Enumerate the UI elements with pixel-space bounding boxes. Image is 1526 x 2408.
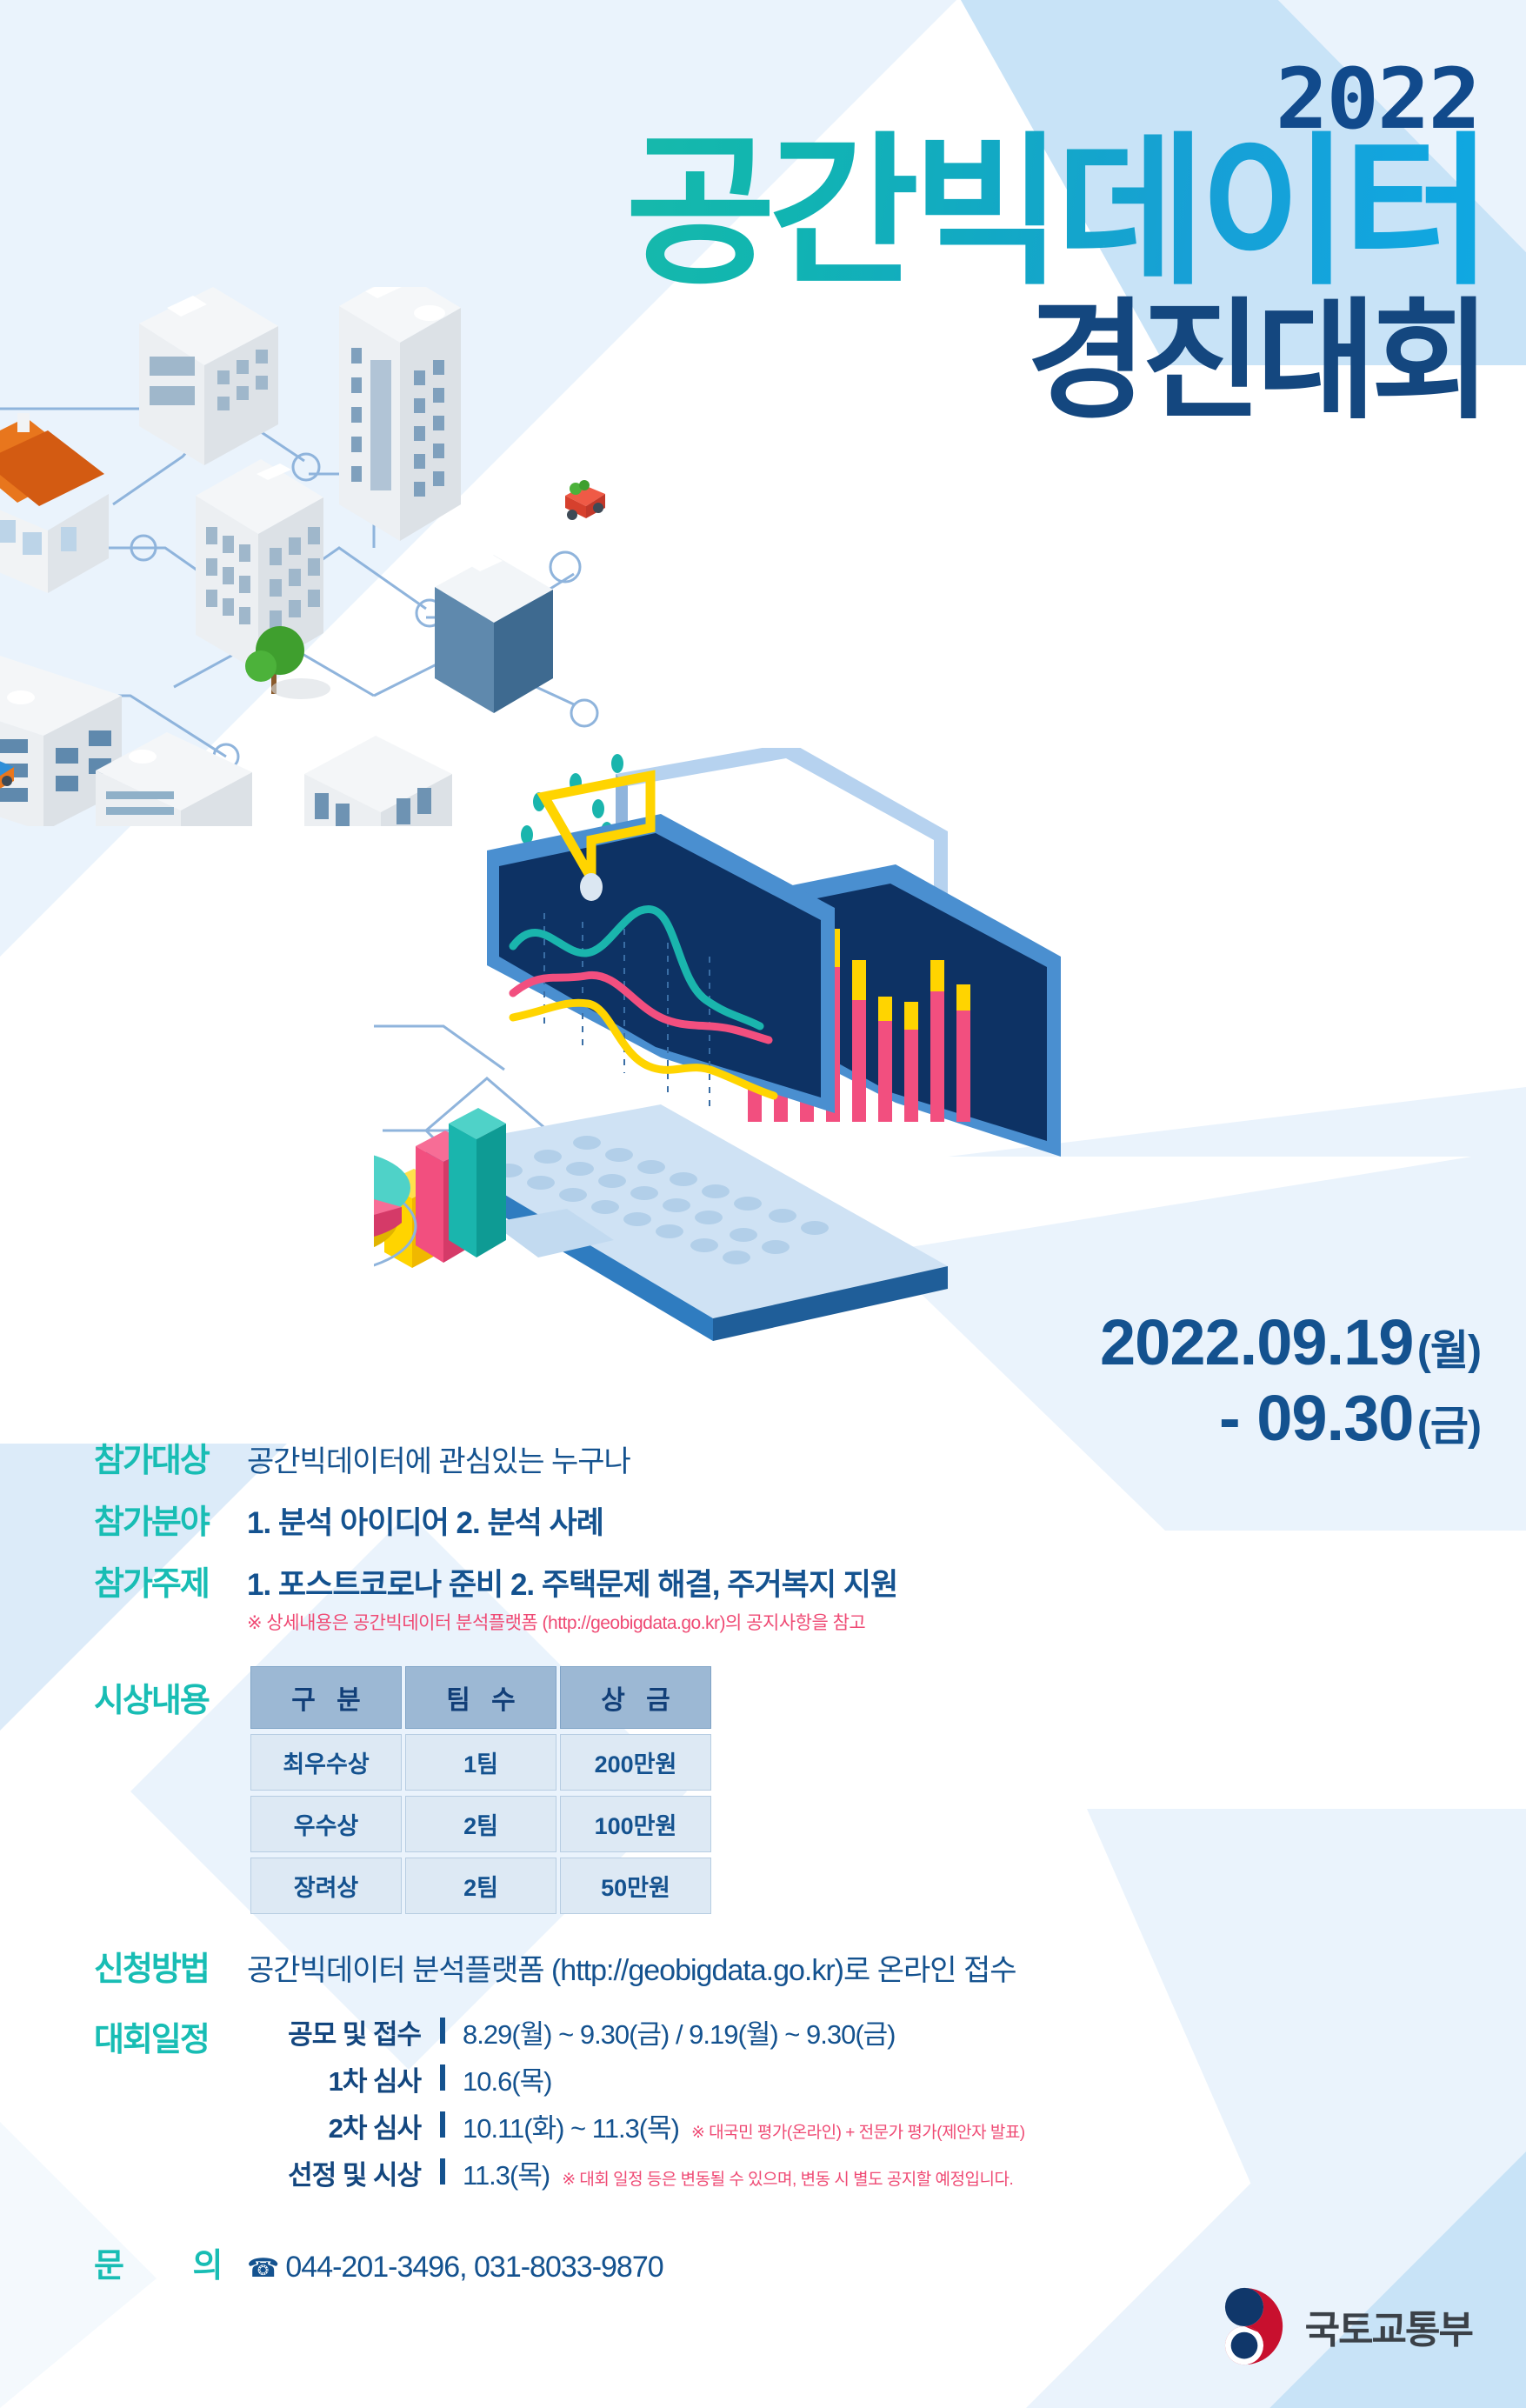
info-row-topic: 참가주제 1. 포스트코로나 준비 2. 주택문제 해결, 주거복지 지원 ※ … [94,1557,1224,1635]
awards-cell-prize: 50만원 [560,1858,711,1914]
contact-value: ☎044-201-3496, 031-8033-9870 [247,2251,663,2285]
event-date-end: - 09.30 [1219,1382,1413,1454]
table-row: 우수상 2팀 100만원 [250,1796,711,1852]
poster-title-sub: 경진대회 [1027,296,1486,426]
label-apply: 신청방법 [94,1942,247,1990]
label-schedule: 대회일정 [94,2012,247,2060]
label-awards: 시상내용 [94,1661,247,1721]
table-row: 장려상 2팀 50만원 [250,1858,711,1914]
awards-cell-category: 우수상 [250,1796,402,1852]
awards-table: 구 분 팀 수 상 금 최우수상 1팀 200만원 우수상 2팀 100만원 [247,1661,715,1919]
label-contact: 문 의 [94,2238,247,2286]
laptop-dashboard-illustration [374,748,1174,1357]
awards-cell-teams: 2팀 [405,1858,556,1914]
event-date-start-dow: (월) [1417,1328,1481,1374]
schedule-divider-icon [440,2064,445,2091]
table-row: 최우수상 1팀 200만원 [250,1734,711,1791]
schedule-list: 공모 및 접수 8.29(월) ~ 9.30(금) / 9.19(월) ~ 9.… [247,2012,1224,2200]
awards-cell-category: 장려상 [250,1858,402,1914]
list-item: 1차 심사 10.6(목) [247,2059,1224,2098]
schedule-item-name: 선정 및 시상 [247,2153,440,2192]
awards-cell-prize: 200만원 [560,1734,711,1791]
label-target: 참가대상 [94,1433,247,1481]
contact-phone-numbers: 044-201-3496, 031-8033-9870 [285,2251,663,2284]
poster-title-main: 공간빅데이터 [625,130,1486,294]
schedule-item-date: 8.29(월) ~ 9.30(금) / 9.19(월) ~ 9.30(금) [463,2012,896,2051]
schedule-divider-icon [440,2111,445,2138]
isometric-city-illustration [0,287,661,826]
schedule-section: 대회일정 공모 및 접수 8.29(월) ~ 9.30(금) / 9.19(월)… [94,2012,1224,2200]
event-date-line-1: 2022.09.19 (월) [1100,1304,1481,1380]
awards-cell-teams: 2팀 [405,1796,556,1852]
contact-section: 문 의 ☎044-201-3496, 031-8033-9870 [94,2238,1224,2286]
footer-ministry-logo: 국토교통부 [1203,2285,1472,2368]
value-apply: 공간빅데이터 분석플랫폼 (http://geobigdata.go.kr)로 … [247,1946,1016,1989]
schedule-item-name: 공모 및 접수 [247,2012,440,2051]
awards-section: 시상내용 구 분 팀 수 상 금 최우수상 1팀 200만원 [94,1661,1224,1919]
list-item: 공모 및 접수 8.29(월) ~ 9.30(금) / 9.19(월) ~ 9.… [247,2012,1224,2051]
awards-header-prize: 상 금 [560,1666,711,1729]
value-topic: 1. 포스트코로나 준비 2. 주택문제 해결, 주거복지 지원 [247,1560,897,1604]
info-row-target: 참가대상 공간빅데이터에 관심있는 누구나 [94,1433,1224,1481]
schedule-item-name: 2차 심사 [247,2106,440,2145]
awards-cell-prize: 100만원 [560,1796,711,1852]
info-section: 참가대상 공간빅데이터에 관심있는 누구나 참가분야 1. 분석 아이디어 2.… [94,1433,1224,2286]
awards-cell-category: 최우수상 [250,1734,402,1791]
poster-root: 2022 공간빅데이터 경진대회 2022.09.19 (월) - 09.30 … [0,0,1526,2408]
awards-header-teams: 팀 수 [405,1666,556,1729]
awards-header-row: 구 분 팀 수 상 금 [250,1666,711,1729]
phone-icon: ☎ [247,2254,278,2283]
list-item: 선정 및 시상 11.3(목) ※ 대회 일정 등은 변동될 수 있으며, 변동… [247,2153,1224,2192]
schedule-item-date: 10.11(화) ~ 11.3(목) [463,2106,679,2145]
value-target: 공간빅데이터에 관심있는 누구나 [247,1437,630,1480]
label-field: 참가분야 [94,1495,247,1543]
schedule-item-name: 1차 심사 [247,2059,440,2098]
schedule-item-date: 11.3(목) [463,2153,550,2192]
awards-header-category: 구 분 [250,1666,402,1729]
list-item: 2차 심사 10.11(화) ~ 11.3(목) ※ 대국민 평가(온라인) +… [247,2106,1224,2145]
value-field: 1. 분석 아이디어 2. 분석 사례 [247,1498,603,1543]
label-topic: 참가주제 [94,1557,247,1604]
note-topic: ※ 상세내용은 공간빅데이터 분석플랫폼 (http://geobigdata.… [247,1609,897,1635]
info-row-field: 참가분야 1. 분석 아이디어 2. 분석 사례 [94,1495,1224,1543]
schedule-item-note: ※ 대국민 평가(온라인) + 전문가 평가(제안자 발표) [691,2119,1025,2143]
event-date-start: 2022.09.19 [1100,1306,1413,1378]
schedule-item-date: 10.6(목) [463,2059,552,2098]
schedule-item-note: ※ 대회 일정 등은 변동될 수 있으며, 변동 시 별도 공지할 예정입니다. [562,2166,1013,2190]
awards-cell-teams: 1팀 [405,1734,556,1791]
info-row-apply: 신청방법 공간빅데이터 분석플랫폼 (http://geobigdata.go.… [94,1942,1224,1990]
taegeuk-icon [1203,2285,1286,2368]
schedule-divider-icon [440,2158,445,2185]
ministry-name: 국토교통부 [1305,2298,1472,2354]
schedule-divider-icon [440,2018,445,2044]
event-date-end-dow: (금) [1417,1404,1481,1450]
